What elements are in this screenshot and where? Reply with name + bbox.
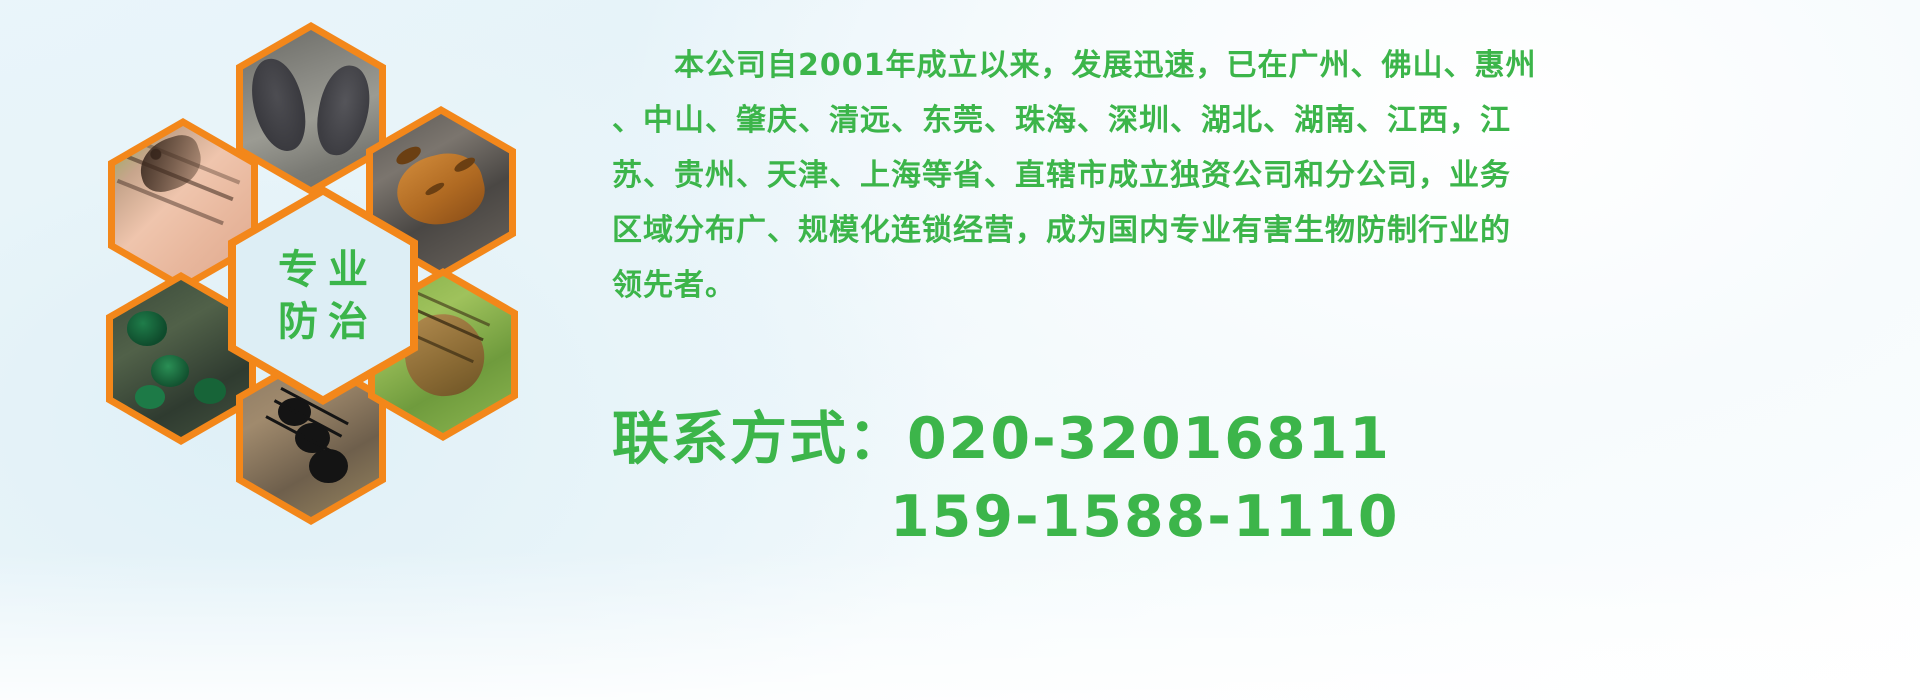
pest-control-banner: 专业 防治 本公司自2001年成立以来，发展迅速，已在广州、佛山、惠州 、中山、… — [0, 0, 1920, 700]
contact-phone-primary[interactable]: 联系方式：020-32016811 — [612, 400, 1912, 478]
company-intro-paragraph: 本公司自2001年成立以来，发展迅速，已在广州、佛山、惠州 、中山、肇庆、清远、… — [612, 38, 1912, 313]
rats-image — [243, 30, 379, 187]
hexagon-photo-cluster: 专业 防治 — [88, 10, 588, 570]
intro-line-3: 苏、贵州、天津、上海等省、直辖市成立独资公司和分公司，业务 — [612, 148, 1912, 203]
contact-phone-secondary[interactable]: 159-1588-1110 — [612, 478, 1912, 556]
intro-line-5: 领先者。 — [612, 258, 1912, 313]
intro-line-2: 、中山、肇庆、清远、东莞、珠海、深圳、湖北、湖南、江西，江 — [612, 93, 1912, 148]
badge-line-2: 防治 — [268, 299, 378, 345]
intro-line-4: 区域分布广、规模化连锁经营，成为国内专业有害生物防制行业的 — [612, 203, 1912, 258]
rats-photo — [236, 22, 386, 195]
badge-line-1: 专业 — [268, 247, 378, 293]
intro-line-1: 本公司自2001年成立以来，发展迅速，已在广州、佛山、惠州 — [612, 38, 1912, 93]
contact-block: 联系方式：020-32016811 159-1588-1110 — [612, 400, 1912, 556]
